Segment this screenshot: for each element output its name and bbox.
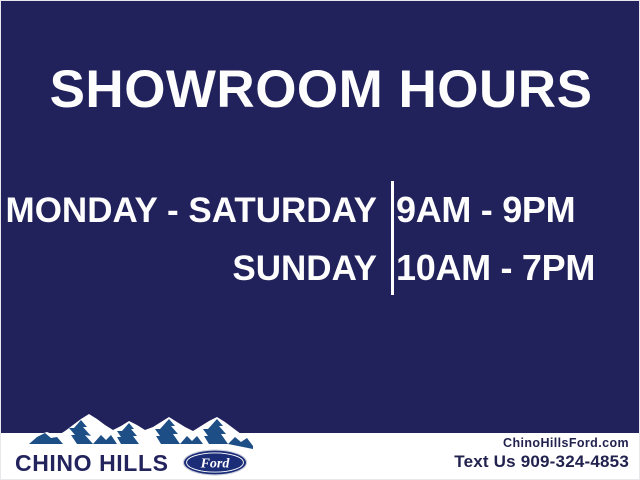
footer-bar: CHINO HILLS Ford ChinoHillsFord.com Text… [1, 433, 640, 480]
ford-oval-icon: Ford [182, 449, 248, 476]
hours-days-label: MONDAY - SATURDAY [1, 193, 377, 228]
text-us-phone[interactable]: Text Us 909-324-4853 [454, 451, 629, 474]
hours-days-label: SUNDAY [1, 251, 377, 286]
hours-time-value: 10AM - 7PM [396, 250, 595, 286]
showroom-hours-sign: SHOWROOM HOURS MONDAY - SATURDAY 9AM - 9… [0, 0, 640, 480]
dealer-name-label: CHINO HILLS [15, 452, 169, 475]
contact-info: ChinoHillsFord.com Text Us 909-324-4853 [454, 435, 629, 474]
hours-time-value: 9AM - 9PM [396, 192, 575, 228]
dealer-logo: CHINO HILLS Ford [7, 411, 257, 480]
website-link[interactable]: ChinoHillsFord.com [454, 435, 629, 451]
hours-row-sunday: SUNDAY 10AM - 7PM [1, 239, 640, 297]
hours-block: MONDAY - SATURDAY 9AM - 9PM SUNDAY 10AM … [1, 181, 640, 297]
ford-wordmark: Ford [200, 457, 231, 472]
hours-row-weekday: MONDAY - SATURDAY 9AM - 9PM [1, 181, 640, 239]
page-title: SHOWROOM HOURS [1, 63, 640, 116]
